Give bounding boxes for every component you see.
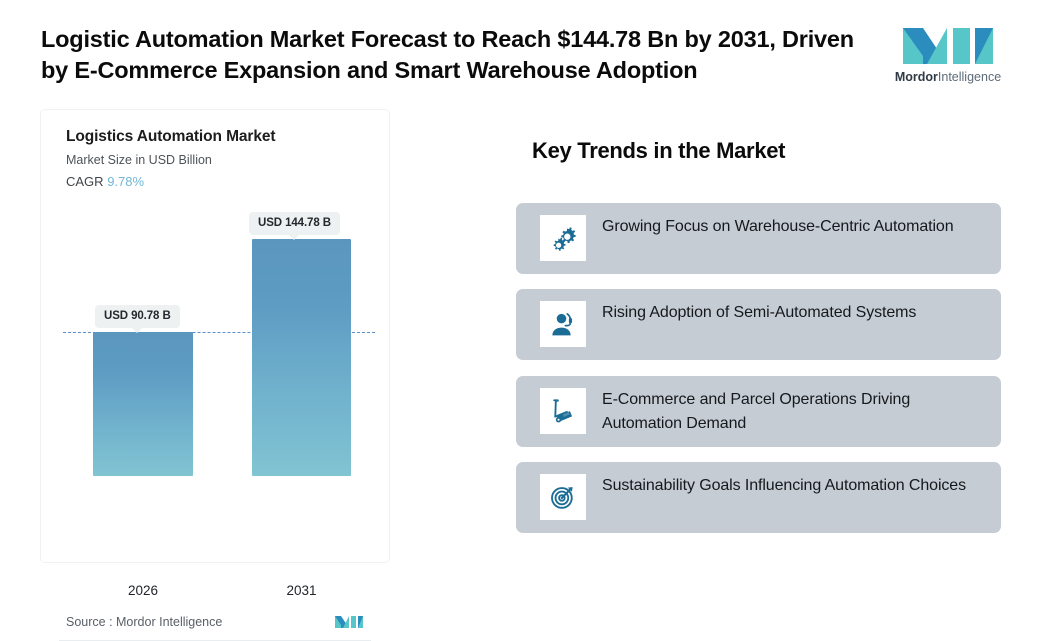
trend-card[interactable]: Growing Focus on Warehouse-Centric Autom… — [516, 203, 1001, 274]
target-arrow-icon — [540, 474, 586, 520]
chart-subtitle: Market Size in USD Billion — [66, 153, 212, 167]
chart-card: Logistics Automation Market Market Size … — [41, 110, 389, 562]
page-title: Logistic Automation Market Forecast to R… — [41, 24, 861, 86]
trend-card[interactable]: Sustainability Goals Influencing Automat… — [516, 462, 1001, 533]
chart-cagr: CAGR 9.78% — [66, 174, 144, 189]
trend-card-text: Rising Adoption of Semi-Automated System… — [602, 301, 980, 325]
key-trends-panel: Key Trends in the Market Growing Focus o… — [516, 128, 1003, 540]
hand-truck-icon — [540, 388, 586, 434]
bar-chart-plot: USD 90.78 B USD 144.78 B 2026 2031 Sourc… — [41, 195, 389, 495]
brand-wordmark: MordorIntelligence — [893, 70, 1003, 84]
trends-heading: Key Trends in the Market — [532, 138, 785, 164]
cagr-value: 9.78% — [107, 174, 144, 189]
trend-card[interactable]: E-Commerce and Parcel Operations Driving… — [516, 376, 1001, 447]
chart-source-row: Source : Mordor Intelligence — [66, 613, 366, 635]
mordor-m-mark-icon — [334, 613, 364, 629]
x-axis-label-2026: 2026 — [93, 583, 193, 598]
chart-source-text: Source : Mordor Intelligence — [66, 615, 222, 629]
trend-card-text: Growing Focus on Warehouse-Centric Autom… — [602, 215, 980, 239]
gears-icon — [540, 215, 586, 261]
x-axis-label-2031: 2031 — [252, 583, 351, 598]
brand-name-secondary: Intelligence — [938, 70, 1001, 84]
trend-card-text: E-Commerce and Parcel Operations Driving… — [602, 388, 980, 436]
trend-card-text: Sustainability Goals Influencing Automat… — [602, 474, 980, 498]
bar-2031 — [252, 239, 351, 476]
cagr-label: CAGR — [66, 174, 104, 189]
bar-value-label-2026: USD 90.78 B — [95, 305, 180, 328]
brand-logo: MordorIntelligence — [893, 18, 1003, 94]
bar-2026 — [93, 332, 193, 476]
trend-card[interactable]: Rising Adoption of Semi-Automated System… — [516, 289, 1001, 360]
brand-name-primary: Mordor — [895, 70, 938, 84]
mordor-m-logo-icon — [901, 18, 995, 66]
chart-title: Logistics Automation Market — [66, 128, 275, 146]
bar-value-label-2031: USD 144.78 B — [249, 212, 340, 235]
headset-agent-icon — [540, 301, 586, 347]
page-header: Logistic Automation Market Forecast to R… — [0, 0, 1057, 108]
